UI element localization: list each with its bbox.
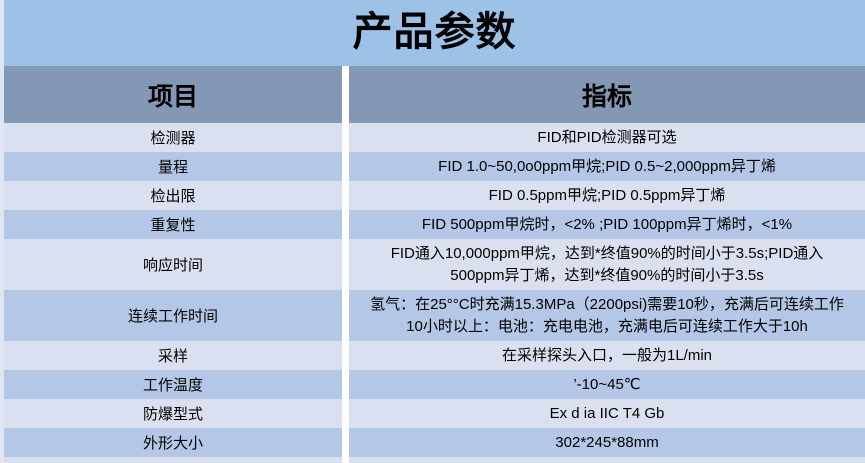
column-divider bbox=[342, 290, 349, 341]
row-label: 量程 bbox=[4, 152, 342, 181]
column-divider bbox=[342, 428, 349, 457]
row-label: 检出限 bbox=[4, 181, 342, 210]
row-value: ’-10~45℃ bbox=[349, 370, 865, 399]
column-divider bbox=[342, 457, 349, 463]
row-label: 重量 bbox=[4, 457, 342, 463]
product-parameters-page: 产品参数 项目 指标 检测器 FID和PID检测器可选 量程 FID 1.0~5… bbox=[0, 0, 865, 463]
row-label: 采样 bbox=[4, 341, 342, 370]
table-row: 检出限 FID 0.5ppm甲烷;PID 0.5ppm异丁烯 bbox=[0, 181, 865, 210]
page-title: 产品参数 bbox=[353, 12, 517, 54]
row-value: Ex d ia IIC T4 Gb bbox=[349, 399, 865, 428]
row-value: FID通入10,000ppm甲烷，达到*终值90%的时间小于3.5s;PID通入… bbox=[349, 239, 865, 290]
column-header-item: 项目 bbox=[4, 66, 342, 123]
row-value-line: FID通入10,000ppm甲烷，达到*终值90%的时间小于3.5s;PID通入 bbox=[391, 243, 824, 264]
row-label: 外形大小 bbox=[4, 428, 342, 457]
table-header-row: 项目 指标 bbox=[0, 66, 865, 123]
row-label: 重复性 bbox=[4, 210, 342, 239]
row-value: 3.7kg bbox=[349, 457, 865, 463]
row-value-line: 302*245*88mm bbox=[555, 432, 658, 453]
row-value-line: 10小时以上：电池：充电电池，充满电后可连续工作大于10h bbox=[406, 316, 808, 337]
row-value: FID 500ppm甲烷时，<2% ;PID 100ppm异丁烯时，<1% bbox=[349, 210, 865, 239]
row-label: 响应时间 bbox=[4, 239, 342, 290]
row-value-line: FID和PID检测器可选 bbox=[537, 127, 676, 148]
page-title-banner: 产品参数 bbox=[0, 0, 865, 66]
row-label: 防爆型式 bbox=[4, 399, 342, 428]
row-value: FID 0.5ppm甲烷;PID 0.5ppm异丁烯 bbox=[349, 181, 865, 210]
row-label: 连续工作时间 bbox=[4, 290, 342, 341]
column-divider bbox=[342, 239, 349, 290]
row-label: 工作温度 bbox=[4, 370, 342, 399]
row-value: 氢气：在25°°C时充满15.3MPa（2200psi)需要10秒，充满后可连续… bbox=[349, 290, 865, 341]
table-row: 重复性 FID 500ppm甲烷时，<2% ;PID 100ppm异丁烯时，<1… bbox=[0, 210, 865, 239]
row-value-line: 氢气：在25°°C时充满15.3MPa（2200psi)需要10秒，充满后可连续… bbox=[370, 294, 844, 315]
column-divider bbox=[342, 341, 349, 370]
row-value-line: FID 0.5ppm甲烷;PID 0.5ppm异丁烯 bbox=[489, 185, 726, 206]
column-divider bbox=[342, 399, 349, 428]
table-row: 量程 FID 1.0~50,0o0ppm甲烷;PID 0.5~2,000ppm异… bbox=[0, 152, 865, 181]
table-row: 采样 在采样探头入口，一般为1L/min bbox=[0, 341, 865, 370]
row-value-line: ’-10~45℃ bbox=[573, 374, 640, 395]
column-divider bbox=[342, 152, 349, 181]
row-value-line: FID 500ppm甲烷时，<2% ;PID 100ppm异丁烯时，<1% bbox=[422, 214, 792, 235]
table-row: 工作温度 ’-10~45℃ bbox=[0, 370, 865, 399]
row-label: 检测器 bbox=[4, 123, 342, 152]
column-divider bbox=[342, 181, 349, 210]
row-value: 302*245*88mm bbox=[349, 428, 865, 457]
row-value-line: FID 1.0~50,0o0ppm甲烷;PID 0.5~2,000ppm异丁烯 bbox=[438, 156, 776, 177]
row-value-line: 在采样探头入口，一般为1L/min bbox=[502, 345, 712, 366]
column-divider bbox=[342, 370, 349, 399]
row-value: FID和PID检测器可选 bbox=[349, 123, 865, 152]
column-divider bbox=[342, 123, 349, 152]
column-divider bbox=[342, 66, 349, 123]
row-value-line: 500ppm异丁烯，达到*终值90%的时间小于3.5s bbox=[450, 265, 763, 286]
table-row: 外形大小 302*245*88mm bbox=[0, 428, 865, 457]
row-value: 在采样探头入口，一般为1L/min bbox=[349, 341, 865, 370]
table-row: 检测器 FID和PID检测器可选 bbox=[0, 123, 865, 152]
table-row: 响应时间 FID通入10,000ppm甲烷，达到*终值90%的时间小于3.5s;… bbox=[0, 239, 865, 290]
column-divider bbox=[342, 210, 349, 239]
table-row: 连续工作时间 氢气：在25°°C时充满15.3MPa（2200psi)需要10秒… bbox=[0, 290, 865, 341]
row-value: FID 1.0~50,0o0ppm甲烷;PID 0.5~2,000ppm异丁烯 bbox=[349, 152, 865, 181]
table-row: 防爆型式 Ex d ia IIC T4 Gb bbox=[0, 399, 865, 428]
table-row: 重量 3.7kg bbox=[0, 457, 865, 463]
column-header-spec: 指标 bbox=[349, 66, 865, 123]
row-value-line: Ex d ia IIC T4 Gb bbox=[550, 403, 665, 424]
spec-table: 项目 指标 检测器 FID和PID检测器可选 量程 FID 1.0~50,0o0… bbox=[0, 66, 865, 463]
